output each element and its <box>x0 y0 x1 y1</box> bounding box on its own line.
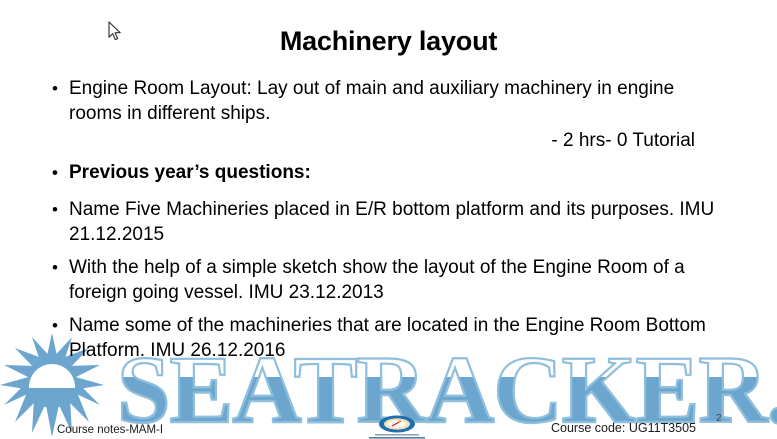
hours-tutorial-line: - 2 hrs- 0 Tutorial <box>52 128 695 153</box>
list-item: Engine Room Layout: Lay out of main and … <box>52 76 732 126</box>
list-item: Name Five Machineries placed in E/R bott… <box>52 197 732 247</box>
page-number: 2 <box>716 413 722 425</box>
mouse-pointer-icon <box>108 21 124 43</box>
list-item: With the help of a simple sketch show th… <box>52 255 732 305</box>
questions-bullet-list: Previous year’s questions: Name Five Mac… <box>52 160 732 366</box>
imu-logo-icon <box>365 415 429 439</box>
list-item: Name some of the machineries that are lo… <box>52 313 732 363</box>
bullet-list: Engine Room Layout: Lay out of main and … <box>52 76 732 129</box>
footer-course-notes: Course notes-MAM-I <box>57 423 163 437</box>
footer-course-code: Course code: UG11T3505 <box>551 421 696 436</box>
presentation-slide: Machinery layout Engine Room Layout: Lay… <box>0 0 777 439</box>
list-item: Previous year’s questions: <box>52 160 732 185</box>
